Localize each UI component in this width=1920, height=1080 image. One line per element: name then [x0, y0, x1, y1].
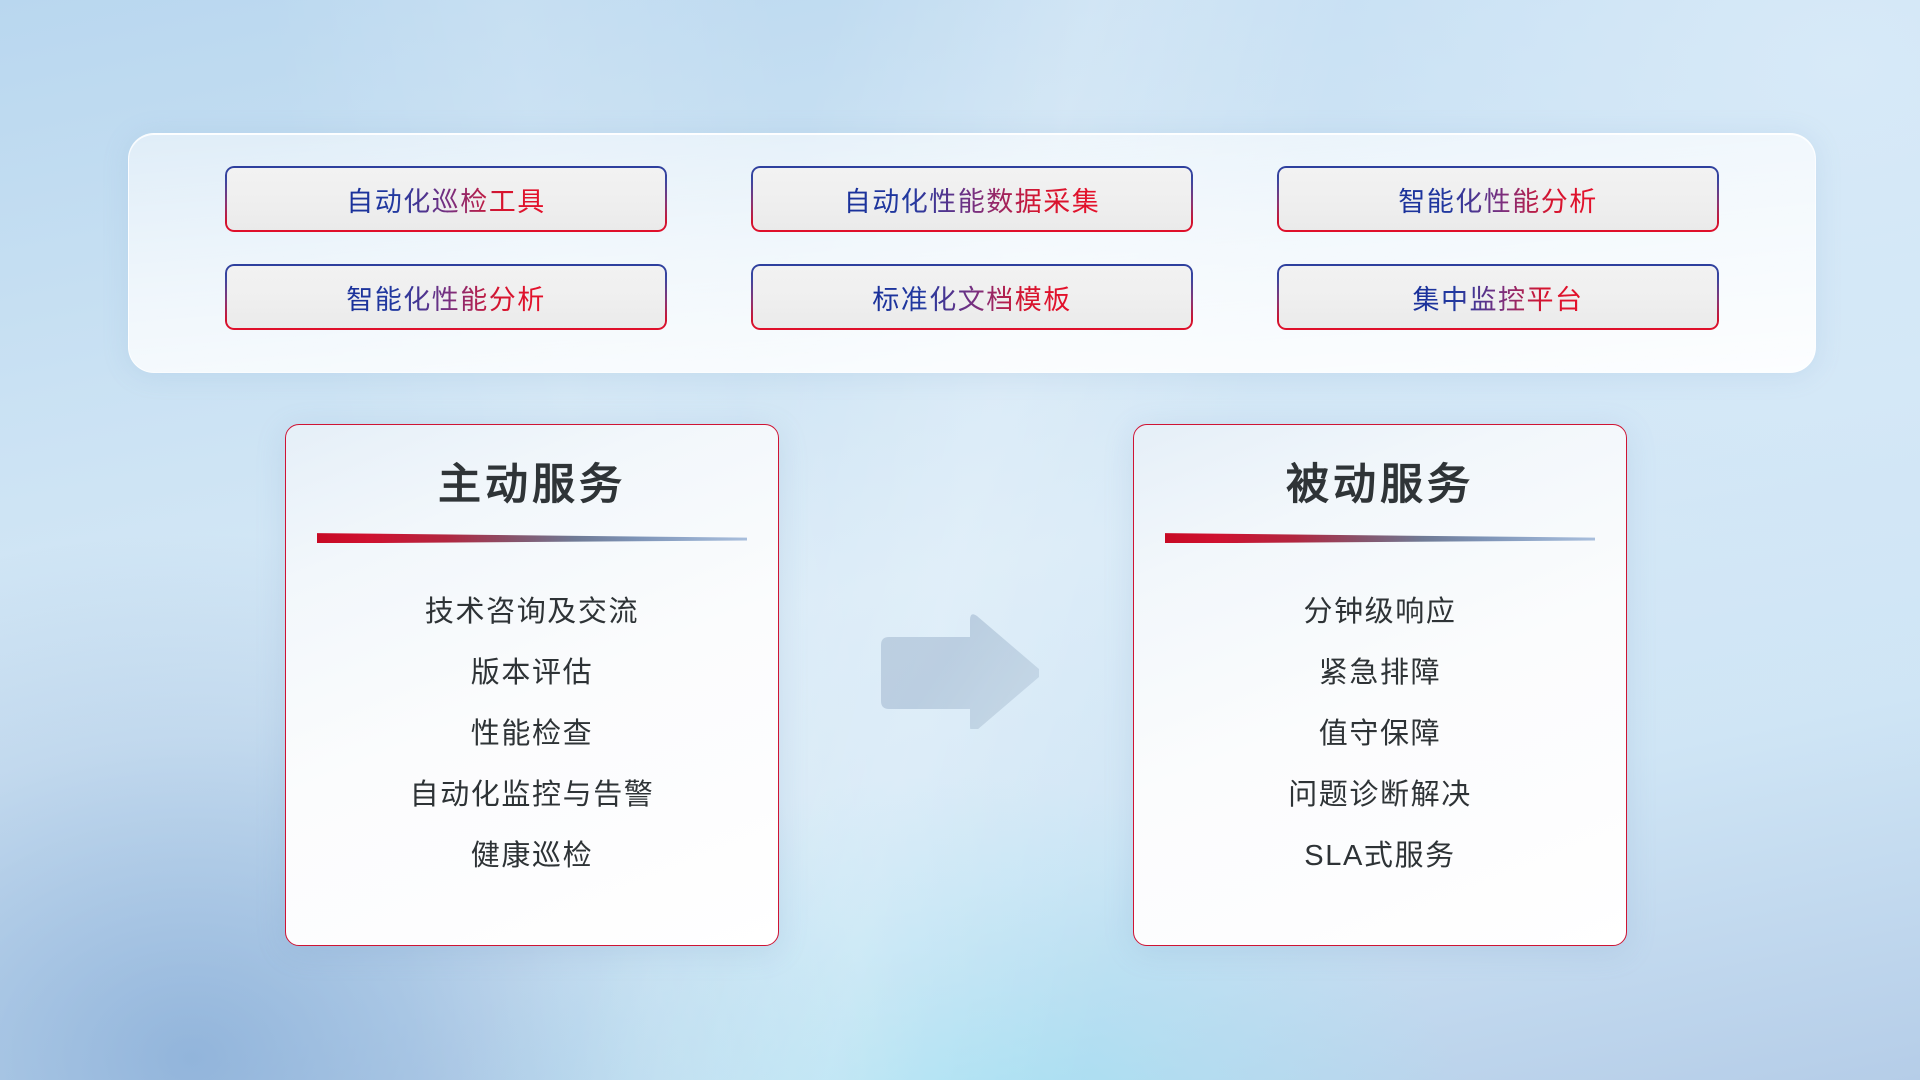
- card-divider: [317, 531, 747, 543]
- list-item: 值守保障: [1319, 720, 1441, 749]
- capability-chip-label: 标准化文档模板: [872, 278, 1072, 317]
- capability-chip-label: 智能化性能分析: [346, 278, 546, 317]
- capability-chip-label: 集中监控平台: [1413, 278, 1584, 317]
- slide-canvas: 自动化巡检工具 自动化性能数据采集 智能化性能分析 智能化性能分析 标准化文档模…: [0, 0, 1920, 1080]
- service-item-list: 分钟级响应 紧急排障 值守保障 问题诊断解决 SLA式服务: [1134, 543, 1626, 945]
- list-item: 分钟级响应: [1303, 598, 1456, 627]
- capability-chip-label: 智能化性能分析: [1398, 180, 1598, 219]
- capability-chip[interactable]: 集中监控平台: [1277, 264, 1719, 330]
- capability-chip[interactable]: 标准化文档模板: [751, 264, 1193, 330]
- service-card-title: 主动服务: [438, 461, 626, 510]
- list-item: 版本评估: [471, 659, 593, 688]
- capability-chip[interactable]: 智能化性能分析: [1277, 166, 1719, 232]
- list-item: 紧急排障: [1319, 659, 1441, 688]
- capability-chip[interactable]: 自动化性能数据采集: [751, 166, 1193, 232]
- capability-chip[interactable]: 自动化巡检工具: [225, 166, 667, 232]
- list-item: SLA式服务: [1304, 842, 1455, 871]
- capability-panel: 自动化巡检工具 自动化性能数据采集 智能化性能分析 智能化性能分析 标准化文档模…: [128, 133, 1816, 373]
- service-card-proactive: 主动服务 技术咨询及交流 版本评估 性能检查 自动化监控与告警 健康巡检: [285, 424, 779, 946]
- list-item: 技术咨询及交流: [425, 598, 639, 627]
- list-item: 问题诊断解决: [1288, 781, 1472, 810]
- list-item: 自动化监控与告警: [410, 781, 655, 810]
- list-item: 性能检查: [471, 720, 593, 749]
- list-item: 健康巡检: [471, 842, 593, 871]
- arrow-right-icon: [873, 613, 1039, 729]
- capability-chip[interactable]: 智能化性能分析: [225, 264, 667, 330]
- service-item-list: 技术咨询及交流 版本评估 性能检查 自动化监控与告警 健康巡检: [286, 543, 778, 945]
- capability-chip-label: 自动化性能数据采集: [844, 180, 1101, 219]
- service-card-reactive: 被动服务 分钟级响应 紧急排障 值守保障 问题诊断解决 SLA式服务: [1133, 424, 1627, 946]
- service-card-title: 被动服务: [1286, 461, 1474, 510]
- card-divider: [1165, 531, 1595, 543]
- capability-chip-label: 自动化巡检工具: [346, 180, 546, 219]
